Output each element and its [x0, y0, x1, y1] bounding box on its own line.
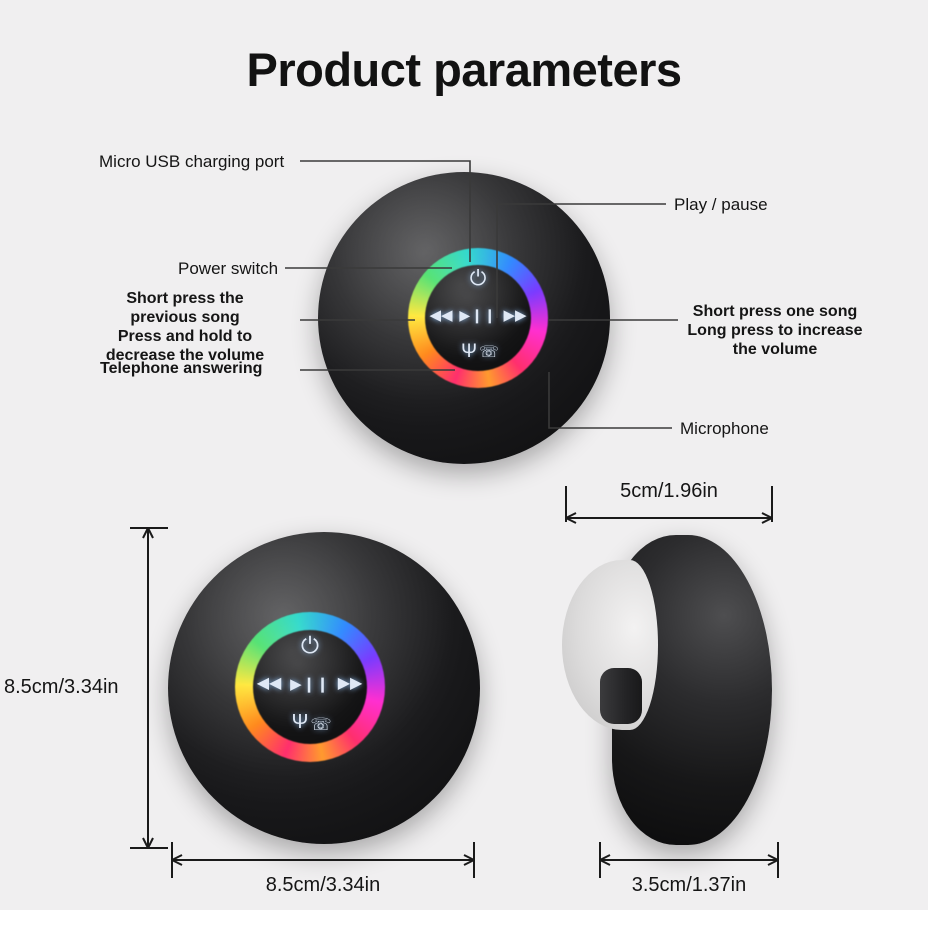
callout-leader-lines: [0, 0, 928, 928]
next-button-front[interactable]: ▶▶: [336, 673, 364, 695]
rgb-light-ring-front: ⏻ ◀◀ ▶❙❙ ▶▶ Ψ ☏: [235, 612, 385, 762]
callout-power-switch: Power switch: [178, 259, 278, 279]
dimension-front-width: 8.5cm/3.34in: [172, 874, 474, 897]
dimension-side-width: 3.5cm/1.37in: [600, 874, 778, 897]
microphone-icon: Ψ: [458, 340, 480, 362]
dimension-left-height: 8.5cm/3.34in: [4, 676, 119, 699]
next-button-top[interactable]: ▶▶: [502, 304, 528, 326]
power-button-top[interactable]: ⏻: [464, 266, 492, 290]
play-pause-button-top[interactable]: ▶❙❙: [460, 304, 496, 326]
microphone-icon-front: Ψ: [289, 711, 311, 733]
dimension-top-width: 5cm/1.96in: [566, 480, 772, 503]
bottom-white-bar: [0, 910, 928, 928]
callout-next-song: Short press one song Long press to incre…: [680, 303, 870, 360]
power-button-front[interactable]: ⏻: [295, 632, 325, 658]
callout-micro-usb: Micro USB charging port: [99, 152, 284, 172]
suction-cup-stem: [600, 668, 642, 724]
phone-call-icon-front: ☏: [310, 713, 332, 735]
callout-microphone: Microphone: [680, 419, 769, 439]
callout-telephone-answering: Telephone answering: [100, 360, 262, 379]
callout-play-pause: Play / pause: [674, 195, 768, 215]
play-pause-button-front[interactable]: ▶❙❙: [290, 673, 330, 695]
previous-button-front[interactable]: ◀◀: [255, 673, 283, 695]
callout-previous-song: Short press the previous song Press and …: [70, 290, 300, 366]
phone-call-icon: ☏: [478, 342, 500, 364]
dimension-lines: [0, 0, 928, 928]
previous-button-top[interactable]: ◀◀: [428, 304, 454, 326]
rgb-light-ring-top: ⏻ ◀◀ ▶❙❙ ▶▶ Ψ ☏: [408, 248, 548, 388]
page-title: Product parameters: [0, 42, 928, 97]
